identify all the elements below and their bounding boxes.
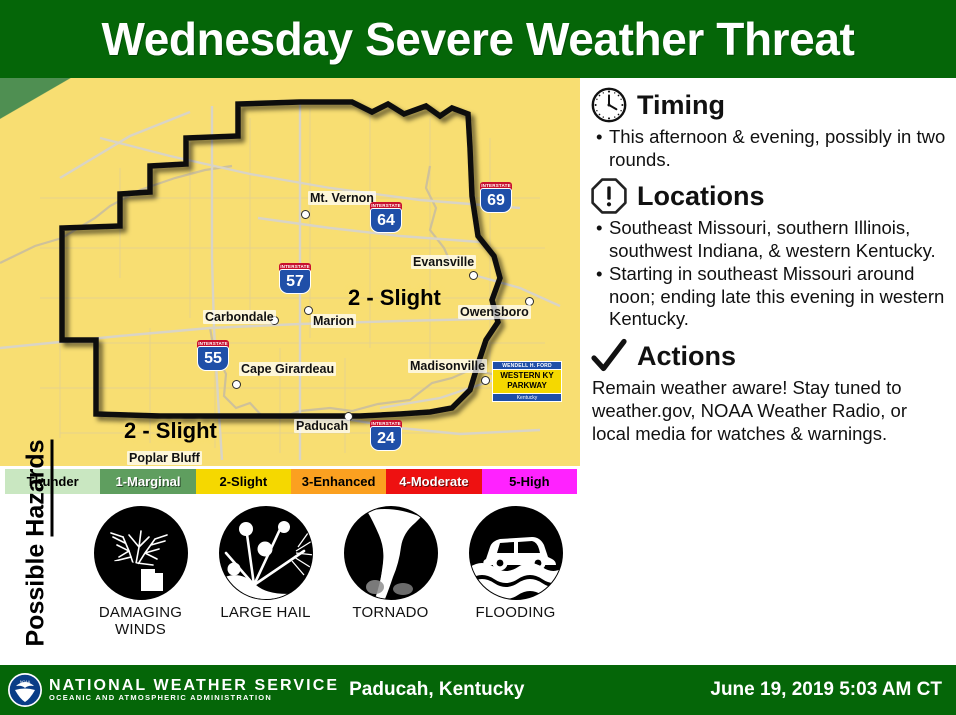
bullet-marker: •: [596, 126, 609, 171]
actions-text: Remain weather aware! Stay tuned to weat…: [592, 377, 948, 446]
city-label: Madisonville: [408, 359, 487, 373]
office-name: Paducah, Kentucky: [349, 679, 524, 701]
hazard-label: TORNADO: [332, 604, 450, 621]
risk-legend: Thunder 1-Marginal 2-Slight 3-Enhanced 4…: [4, 468, 578, 495]
timing-title: Timing: [637, 90, 725, 121]
legend-item-slight: 2-Slight: [196, 469, 291, 494]
parkway-name-line1: WESTERN KY: [500, 371, 553, 380]
parkway-sub: Kentucky: [492, 394, 562, 402]
bullet-marker: •: [596, 263, 609, 331]
legend-label: 1-Marginal: [115, 474, 180, 489]
hazard-tornado: TORNADO: [332, 498, 450, 621]
actions-title: Actions: [637, 341, 736, 372]
locations-bullet: • Southeast Missouri, southern Illinois,…: [596, 217, 948, 262]
city-dot: [232, 380, 241, 389]
legend-label: 3-Enhanced: [302, 474, 376, 489]
bullet-text: Starting in southeast Missouri around no…: [609, 263, 948, 331]
parkway-name: WESTERN KY PARKWAY: [492, 370, 562, 394]
interstate-shield-55: INTERSTATE 55: [196, 340, 230, 372]
agency-name: NATIONAL WEATHER SERVICE OCEANIC AND ATM…: [49, 678, 339, 702]
parkway-shield-western-ky: WENDELL H. FORD WESTERN KY PARKWAY Kentu…: [492, 361, 562, 402]
risk-label: 2 - Slight: [124, 418, 217, 444]
hazard-icons-row: DAMAGING WINDS: [0, 498, 580, 665]
risk-label: 2 - Slight: [348, 285, 441, 311]
weather-graphic: Wednesday Severe Weather Threat: [0, 0, 956, 715]
hazard-label-line2: WINDS: [82, 621, 200, 638]
clock-icon: [590, 86, 628, 124]
timing-section-header: Timing: [590, 86, 948, 124]
parkway-name-line2: PARKWAY: [493, 381, 561, 391]
hazard-damaging-winds: DAMAGING WINDS: [82, 498, 200, 639]
shield-number: 64: [370, 208, 402, 233]
city-label: Poplar Bluff: [127, 451, 202, 465]
damaging-winds-icon: [94, 506, 188, 600]
tornado-icon: [344, 506, 438, 600]
locations-bullets: • Southeast Missouri, southern Illinois,…: [596, 217, 948, 331]
city-dot: [469, 271, 478, 280]
checkmark-icon: [590, 338, 628, 376]
interstate-shield-69: INTERSTATE 69: [479, 182, 513, 214]
city-label: Carbondale: [203, 310, 276, 324]
info-panel: Timing • This afternoon & evening, possi…: [580, 78, 956, 665]
footer-bar: NOAA NATIONAL WEATHER SERVICE OCEANIC AN…: [0, 665, 956, 715]
hazard-label: DAMAGING WINDS: [82, 604, 200, 639]
svg-text:NOAA: NOAA: [20, 680, 31, 684]
locations-section-header: Locations: [590, 177, 948, 215]
actions-section-header: Actions: [590, 338, 948, 376]
legend-item-enhanced: 3-Enhanced: [291, 469, 386, 494]
bullet-marker: •: [596, 217, 609, 262]
threat-map: 2 - Slight 2 - Slight Mt. Vernon Evansvi…: [0, 78, 580, 466]
page-title: Wednesday Severe Weather Threat: [102, 12, 855, 66]
hazard-large-hail: LARGE HAIL: [207, 498, 325, 621]
city-label: Paducah: [294, 419, 350, 433]
bullet-text: This afternoon & evening, possibly in tw…: [609, 126, 948, 171]
hazard-label-line1: LARGE HAIL: [207, 604, 325, 621]
header-banner: Wednesday Severe Weather Threat: [0, 0, 956, 78]
shield-number: 24: [370, 426, 402, 451]
hazard-label-line1: FLOODING: [457, 604, 575, 621]
hazard-flooding: FLOODING: [457, 498, 575, 621]
hazard-label-line1: TORNADO: [332, 604, 450, 621]
flooding-icon: [469, 506, 563, 600]
parkway-banner: WENDELL H. FORD: [492, 361, 562, 370]
legend-item-high: 5-High: [482, 469, 577, 494]
locations-title: Locations: [637, 181, 765, 212]
agency-name-line2: OCEANIC AND ATMOSPHERIC ADMINISTRATION: [49, 694, 339, 702]
legend-item-marginal: 1-Marginal: [100, 469, 195, 494]
interstate-shield-57: INTERSTATE 57: [278, 263, 312, 295]
noaa-logo: NOAA: [8, 673, 42, 707]
interstate-shield-24: INTERSTATE 24: [369, 420, 403, 452]
city-label: Cape Girardeau: [239, 362, 336, 376]
legend-item-moderate: 4-Moderate: [386, 469, 481, 494]
city-label: Evansville: [411, 255, 476, 269]
city-dot: [301, 210, 310, 219]
timing-bullet: • This afternoon & evening, possibly in …: [596, 126, 948, 171]
timing-bullets: • This afternoon & evening, possibly in …: [596, 126, 948, 171]
exclamation-octagon-icon: [590, 177, 628, 215]
legend-label: 4-Moderate: [399, 474, 468, 489]
legend-label: 5-High: [509, 474, 549, 489]
interstate-shield-64: INTERSTATE 64: [369, 202, 403, 234]
hazard-label: FLOODING: [457, 604, 575, 621]
city-dot: [481, 376, 490, 385]
hazard-label-line1: DAMAGING: [82, 604, 200, 621]
issued-timestamp: June 19, 2019 5:03 AM CT: [710, 679, 942, 701]
large-hail-icon: [219, 506, 313, 600]
shield-number: 57: [279, 269, 311, 294]
locations-bullet: • Starting in southeast Missouri around …: [596, 263, 948, 331]
hazard-label: LARGE HAIL: [207, 604, 325, 621]
city-label: Mt. Vernon: [308, 191, 376, 205]
agency-name-line1: NATIONAL WEATHER SERVICE: [49, 678, 339, 694]
legend-label: 2-Slight: [219, 474, 267, 489]
bullet-text: Southeast Missouri, southern Illinois, s…: [609, 217, 948, 262]
city-label: Marion: [311, 314, 356, 328]
shield-number: 55: [197, 346, 229, 371]
shield-number: 69: [480, 188, 512, 213]
city-label: Owensboro: [458, 305, 531, 319]
